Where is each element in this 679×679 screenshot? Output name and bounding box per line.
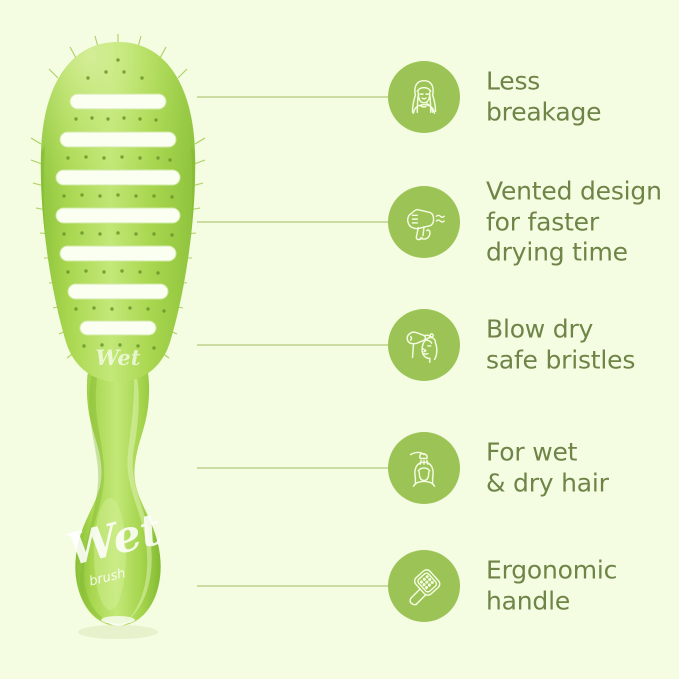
feature-item-ergonomic-handle[interactable]: Ergonomic handle [190,546,679,626]
feature-item-wet-and-dry[interactable]: For wet & dry hair [190,428,679,508]
connector-line [197,468,393,469]
feature-item-vented-design[interactable]: Vented design for faster drying time [190,182,679,262]
feature-label: Blow dry safe bristles [486,315,635,376]
feature-label: Ergonomic handle [486,556,617,617]
feature-label: For wet & dry hair [486,438,609,499]
feature-label: Less breakage [486,67,601,128]
connector-line [197,586,393,587]
hair-brush-illustration: Wet brush [18,34,218,644]
hair-dryer-airflow-icon [388,186,460,258]
feature-label: Vented design for faster drying time [486,176,662,268]
blow-dryer-face-profile-icon [388,309,460,381]
connector-line [197,97,393,98]
brand-logo-neck: Wet [96,345,141,370]
connector-line [197,345,393,346]
svg-text:Wet: Wet [96,345,141,370]
shower-head-woman-icon [388,432,460,504]
feature-item-blow-dry-safe[interactable]: Blow dry safe bristles [190,305,679,385]
feature-item-less-breakage[interactable]: Less breakage [190,57,679,137]
brush-head [18,34,205,382]
paddle-brush-icon [388,550,460,622]
connector-line [197,222,393,223]
product-feature-infographic: Wet brush [0,0,679,679]
feature-list: Less breakage [190,0,679,679]
woman-hair-strand-icon [388,61,460,133]
